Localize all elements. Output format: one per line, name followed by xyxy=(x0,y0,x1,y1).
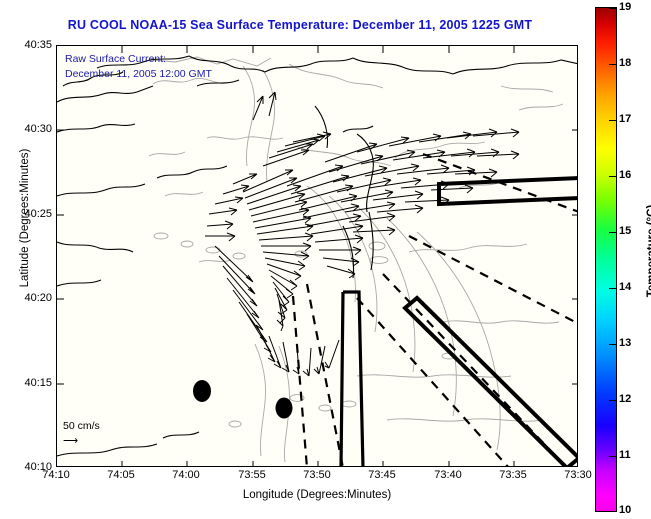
y-axis-title: Latitude (Degrees:Minutes) xyxy=(19,118,31,318)
y-tick-0: 40:35 xyxy=(6,40,52,51)
annotation-line-2: December 11, 2005 12:00 GMT xyxy=(65,67,212,82)
temperature-colorbar[interactable] xyxy=(595,7,617,512)
x-tick-2: 74:00 xyxy=(156,470,216,481)
scale-legend-label: 50 cm/s xyxy=(63,420,100,432)
colorbar-tick-19: 19 xyxy=(619,2,631,13)
colorbar-tick-10: 10 xyxy=(619,505,631,516)
x-tick-7: 73:35 xyxy=(483,470,543,481)
x-tick-4: 73:50 xyxy=(287,470,347,481)
colorbar-tick-11: 11 xyxy=(619,450,631,461)
colorbar-title: Temperature (°C) xyxy=(646,161,651,341)
colorbar-tick-17: 17 xyxy=(619,114,631,125)
y-tick-4: 40:15 xyxy=(6,378,52,389)
x-axis-tick-labels: 74:10 74:05 74:00 73:55 73:50 73:45 73:4… xyxy=(56,470,616,486)
scale-arrow-icon: ⟶ xyxy=(63,434,100,448)
vector-scale-legend: 50 cm/s ⟶ xyxy=(63,419,100,448)
colorbar-tick-15: 15 xyxy=(619,226,631,237)
page-title: RU COOL NOAA-15 Sea Surface Temperature:… xyxy=(0,18,600,32)
channel-corridor xyxy=(341,292,363,467)
x-tick-3: 73:55 xyxy=(222,470,282,481)
colorbar-tick-14: 14 xyxy=(619,282,631,293)
station-markers xyxy=(193,380,293,419)
colorbar-tick-12: 12 xyxy=(619,394,631,405)
surface-current-vectors xyxy=(205,92,519,376)
map-canvas xyxy=(57,46,578,467)
x-axis-title: Longitude (Degrees:Minutes) xyxy=(56,489,578,501)
x-tick-6: 73:40 xyxy=(418,470,478,481)
colorbar-tick-16: 16 xyxy=(619,170,631,181)
annotation-line-1: Raw Surface Current: xyxy=(65,52,212,67)
x-tick-0: 74:10 xyxy=(26,470,86,481)
map-plot-area[interactable]: Raw Surface Current: December 11, 2005 1… xyxy=(56,45,578,467)
colorbar-tick-18: 18 xyxy=(619,58,631,69)
sst-map-figure: RU COOL NOAA-15 Sea Surface Temperature:… xyxy=(0,0,651,519)
x-tick-1: 74:05 xyxy=(91,470,151,481)
colorbar-tick-13: 13 xyxy=(619,338,631,349)
x-tick-5: 73:45 xyxy=(352,470,412,481)
current-annotation: Raw Surface Current: December 11, 2005 1… xyxy=(65,52,212,82)
